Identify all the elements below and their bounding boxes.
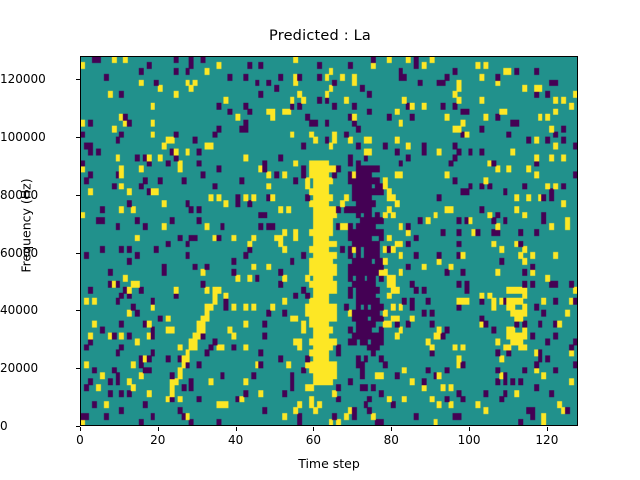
y-tick-label: 100000: [0, 130, 71, 144]
matplotlib-figure: Predicted : La 0200004000060000800001000…: [0, 0, 640, 480]
x-tick-label: 20: [150, 433, 165, 447]
y-tick-mark: [76, 195, 80, 196]
heatmap-axes: [80, 56, 578, 426]
x-tick-label: 120: [535, 433, 558, 447]
y-tick-mark: [76, 368, 80, 369]
x-tick-label: 0: [76, 433, 84, 447]
x-tick-mark: [469, 427, 470, 431]
x-tick-label: 40: [228, 433, 243, 447]
x-tick-mark: [547, 427, 548, 431]
x-tick-mark: [391, 427, 392, 431]
y-tick-mark: [76, 253, 80, 254]
x-axis-label: Time step: [80, 456, 578, 471]
heatmap-image: [81, 57, 577, 425]
x-tick-label: 80: [384, 433, 399, 447]
y-tick-label: 120000: [0, 72, 71, 86]
y-tick-label: 0: [0, 419, 71, 433]
x-tick-mark: [313, 427, 314, 431]
y-tick-mark: [76, 310, 80, 311]
y-tick-label: 20000: [0, 361, 71, 375]
x-tick-mark: [236, 427, 237, 431]
x-tick-label: 60: [306, 433, 321, 447]
y-tick-label: 40000: [0, 303, 71, 317]
x-tick-mark: [158, 427, 159, 431]
y-tick-label: 80000: [0, 188, 71, 202]
y-tick-label: 60000: [0, 246, 71, 260]
page-title: Predicted : La: [0, 28, 640, 44]
y-tick-mark: [76, 79, 80, 80]
y-axis-label: Frequency (Hz): [19, 96, 34, 356]
x-tick-label: 100: [458, 433, 481, 447]
y-tick-mark: [76, 137, 80, 138]
x-tick-mark: [80, 427, 81, 431]
